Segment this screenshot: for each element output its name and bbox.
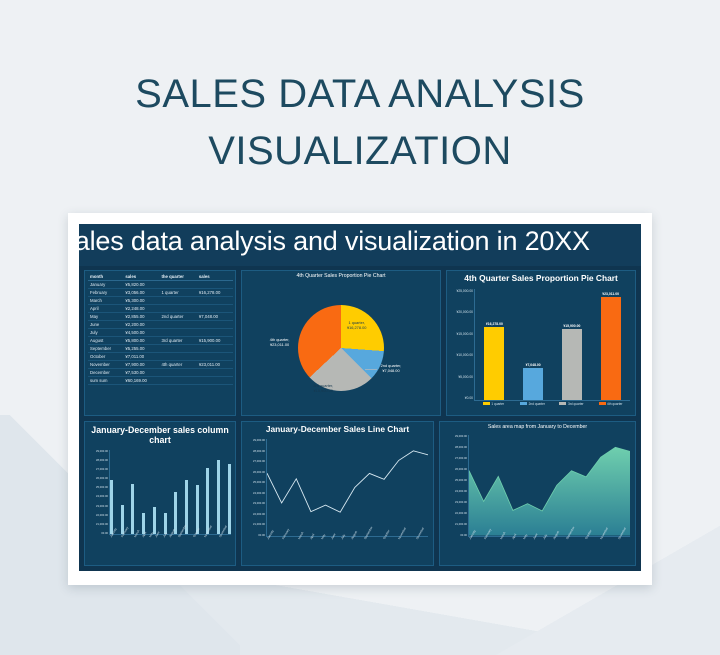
table-cell-sales: ¥5,300.00 xyxy=(123,297,159,305)
table-cell-qsales xyxy=(197,321,233,329)
th-sales: sales xyxy=(123,273,159,281)
table-row: January¥5,820.00 xyxy=(88,281,233,289)
line-y-tick: ¥8,000.00 xyxy=(253,450,265,453)
column-y-tick: ¥2,000.00 xyxy=(96,514,108,517)
line-y-tick: ¥0.00 xyxy=(258,534,265,537)
bar-chart-y-axis: ¥25,000.00¥20,000.00¥15,000.00¥10,000.00… xyxy=(449,289,473,401)
bar-value-label: ¥15,900.00 xyxy=(563,324,580,328)
area-chart-y-axis: ¥9,000.00¥8,000.00¥7,000.00¥6,000.00¥5,0… xyxy=(441,435,467,537)
column-y-tick: ¥0.00 xyxy=(101,532,108,535)
area-y-tick: ¥4,000.00 xyxy=(455,490,467,493)
column-y-tick: ¥1,000.00 xyxy=(96,523,108,526)
column-chart-title: January-December sales column chart xyxy=(85,422,235,446)
pie-label-q3: 3rd quarter,¥15,900.00 xyxy=(313,384,333,394)
table-cell-quarter xyxy=(159,353,196,361)
table-cell-quarter xyxy=(159,297,196,305)
column-chart-columns xyxy=(109,450,231,535)
table-cell-sales: ¥7,900.00 xyxy=(123,361,159,369)
table-cell-quarter xyxy=(159,281,196,289)
area-chart-plot xyxy=(468,435,630,537)
bar-column: ¥7,048.00 xyxy=(523,289,543,400)
line-chart-y-axis: ¥9,000.00¥8,000.00¥7,000.00¥6,000.00¥5,0… xyxy=(243,439,265,537)
area-chart-wrap: ¥9,000.00¥8,000.00¥7,000.00¥6,000.00¥5,0… xyxy=(440,431,635,565)
table-cell-qsales: ¥15,900.00 xyxy=(197,337,233,345)
line-y-tick: ¥3,000.00 xyxy=(253,502,265,505)
bar-value-label: ¥23,011.00 xyxy=(602,292,619,296)
bar-x-label: 2nd quarter xyxy=(529,402,545,406)
bar-legend-swatch xyxy=(483,402,490,405)
bar-x-label-item: 4th quarter xyxy=(598,402,624,406)
dashboard-frame: Sales data analysis and visualization in… xyxy=(68,213,652,585)
table-cell-sales: ¥2,200.00 xyxy=(123,321,159,329)
table-header-row: month sales the quarter sales xyxy=(88,273,233,281)
area-y-tick: ¥9,000.00 xyxy=(455,435,467,438)
bar-value-label: ¥7,048.00 xyxy=(526,363,541,367)
pie-disc xyxy=(298,305,384,391)
table-cell-sales: ¥4,500.00 xyxy=(123,329,159,337)
sales-table-wrap: month sales the quarter sales January¥5,… xyxy=(85,271,235,385)
table-cell-sales: ¥5,255.00 xyxy=(123,345,159,353)
line-chart-x-axis: JanuaryFebruaryMarchAprilMayJuneJulyAugu… xyxy=(266,537,428,564)
th-month: month xyxy=(88,273,123,281)
table-row: December¥7,530.00 xyxy=(88,369,233,377)
area-y-tick: ¥8,000.00 xyxy=(455,446,467,449)
table-cell-sales: ¥5,800.00 xyxy=(123,337,159,345)
column-x-label: April xyxy=(141,531,147,538)
table-cell-quarter xyxy=(159,369,196,377)
column-rect xyxy=(228,464,231,535)
bar-value-label: ¥16,278.00 xyxy=(486,322,503,326)
area-x-label: July xyxy=(542,534,548,540)
bar-chart-x-axis: 1 quarter2nd quarter3rd quarter4th quart… xyxy=(474,402,630,412)
bar-x-label-item: 3rd quarter xyxy=(559,402,585,406)
table-cell-sales: ¥7,011.00 xyxy=(123,353,159,361)
column-y-tick: ¥5,000.00 xyxy=(96,486,108,489)
pie-label-q4: 4th quarter,¥23,011.00 xyxy=(270,338,290,348)
column-y-tick: ¥9,000.00 xyxy=(96,450,108,453)
area-y-tick: ¥6,000.00 xyxy=(455,468,467,471)
bar-y-tick: ¥20,000.00 xyxy=(456,310,473,314)
area-y-tick: ¥3,000.00 xyxy=(455,501,467,504)
bar-x-label: 1 quarter xyxy=(491,402,504,406)
table-cell-qsales: ¥23,011.00 xyxy=(197,361,233,369)
column-chart-y-axis: ¥9,000.00¥8,000.00¥7,000.00¥6,000.00¥5,0… xyxy=(86,450,108,535)
table-cell-month: January xyxy=(88,281,123,289)
bar-legend-swatch xyxy=(520,402,527,405)
table-cell-sales: ¥2,855.00 xyxy=(123,313,159,321)
bar-rect xyxy=(523,368,543,399)
table-cell-quarter xyxy=(159,321,196,329)
area-y-tick: ¥7,000.00 xyxy=(455,457,467,460)
table-cell-month: sum sum xyxy=(88,377,123,385)
th-quarter-sales: sales xyxy=(197,273,233,281)
th-quarter: the quarter xyxy=(159,273,196,281)
sales-table: month sales the quarter sales January¥5,… xyxy=(88,273,233,385)
line-x-label: April xyxy=(309,533,315,540)
table-cell-qsales xyxy=(197,377,233,385)
table-cell-qsales xyxy=(197,329,233,337)
table-cell-qsales: ¥16,278.00 xyxy=(197,289,233,297)
bar-x-label: 4th quarter xyxy=(607,402,622,406)
line-y-tick: ¥6,000.00 xyxy=(253,471,265,474)
bar-column: ¥16,278.00 xyxy=(484,289,504,400)
area-y-tick: ¥0.00 xyxy=(460,534,467,537)
line-chart-wrap: ¥9,000.00¥8,000.00¥7,000.00¥6,000.00¥5,0… xyxy=(242,435,433,565)
column-y-tick: ¥3,000.00 xyxy=(96,505,108,508)
page-title-line-1: SALES DATA ANALYSIS xyxy=(0,66,720,123)
dashboard-banner-title: Sales data analysis and visualization in… xyxy=(79,226,590,257)
column-y-tick: ¥8,000.00 xyxy=(96,459,108,462)
column-y-tick: ¥4,000.00 xyxy=(96,495,108,498)
panel-monthly-line-chart: January-December Sales Line Chart ¥9,000… xyxy=(241,421,434,567)
table-row: February¥3,056.001 quarter¥16,278.00 xyxy=(88,289,233,297)
area-y-tick: ¥2,000.00 xyxy=(455,512,467,515)
table-cell-qsales xyxy=(197,297,233,305)
table-cell-quarter: 3rd quarter xyxy=(159,337,196,345)
bar-chart-title: 4th Quarter Sales Proportion Pie Chart xyxy=(447,271,635,285)
table-row: March¥5,300.00 xyxy=(88,297,233,305)
bar-rect xyxy=(484,327,504,399)
bar-column: ¥15,900.00 xyxy=(562,289,582,400)
column-rect xyxy=(131,484,134,534)
table-row: sum sum¥60,169.00 xyxy=(88,377,233,385)
table-row: May¥2,855.002nd quarter¥7,048.00 xyxy=(88,313,233,321)
area-y-tick: ¥1,000.00 xyxy=(455,523,467,526)
table-cell-quarter: 4th quarter xyxy=(159,361,196,369)
table-row: September¥5,255.00 xyxy=(88,345,233,353)
bar-y-tick: ¥10,000.00 xyxy=(456,353,473,357)
bar-legend-swatch xyxy=(559,402,566,405)
page-title: SALES DATA ANALYSIS VISUALIZATION xyxy=(0,66,720,180)
line-chart-title: January-December Sales Line Chart xyxy=(242,422,433,436)
bar-chart-wrap: ¥25,000.00¥20,000.00¥15,000.00¥10,000.00… xyxy=(447,285,635,415)
table-cell-quarter xyxy=(159,305,196,313)
bar-column: ¥23,011.00 xyxy=(601,289,621,400)
bar-y-tick: ¥15,000.00 xyxy=(456,332,473,336)
column-rect xyxy=(217,460,220,534)
pie-leader-line xyxy=(365,369,377,370)
bar-y-tick: ¥25,000.00 xyxy=(456,289,473,293)
table-cell-quarter xyxy=(159,377,196,385)
dashboard-row-top: month sales the quarter sales January¥5,… xyxy=(84,270,636,416)
line-y-tick: ¥1,000.00 xyxy=(253,523,265,526)
dashboard-row-bottom: January-December sales column chart ¥9,0… xyxy=(84,421,636,567)
table-cell-month: March xyxy=(88,297,123,305)
table-row: July¥4,500.00 xyxy=(88,329,233,337)
pie-label-q1: 1 quarter,¥16,278.00 xyxy=(347,321,366,331)
table-cell-month: November xyxy=(88,361,123,369)
column-chart-wrap: ¥9,000.00¥8,000.00¥7,000.00¥6,000.00¥5,0… xyxy=(85,446,235,565)
pie-label-q2: 2nd quarter,¥7,048.00 xyxy=(381,364,402,374)
table-row: June¥2,200.00 xyxy=(88,321,233,329)
bar-chart-columns: ¥16,278.00¥7,048.00¥15,900.00¥23,011.00 xyxy=(474,289,630,401)
bar-rect xyxy=(562,329,582,399)
line-chart-plot xyxy=(266,439,428,537)
line-x-label: July xyxy=(340,534,346,540)
line-y-tick: ¥7,000.00 xyxy=(253,460,265,463)
table-cell-qsales xyxy=(197,369,233,377)
panel-sales-table: month sales the quarter sales January¥5,… xyxy=(84,270,236,416)
column-rect xyxy=(174,492,177,534)
column-chart-x-axis: JanuaryFebruaryMarchAprilMayJuneJulyAugu… xyxy=(109,535,231,564)
area-y-tick: ¥5,000.00 xyxy=(455,479,467,482)
bar-rect xyxy=(601,297,621,399)
line-y-tick: ¥5,000.00 xyxy=(253,481,265,484)
table-cell-quarter: 2nd quarter xyxy=(159,313,196,321)
panel-quarter-pie-chart: 4th Quarter Sales Proportion Pie Chart 1… xyxy=(241,270,441,416)
line-y-tick: ¥4,000.00 xyxy=(253,492,265,495)
line-y-tick: ¥9,000.00 xyxy=(253,439,265,442)
table-cell-month: May xyxy=(88,313,123,321)
table-cell-qsales xyxy=(197,353,233,361)
table-cell-month: October xyxy=(88,353,123,361)
table-cell-sales: ¥7,530.00 xyxy=(123,369,159,377)
table-cell-month: July xyxy=(88,329,123,337)
table-cell-quarter: 1 quarter xyxy=(159,289,196,297)
table-cell-month: December xyxy=(88,369,123,377)
bar-x-label: 3rd quarter xyxy=(568,402,584,406)
column-rect xyxy=(110,480,113,535)
bar-legend-swatch xyxy=(599,402,606,405)
panel-monthly-column-chart: January-December sales column chart ¥9,0… xyxy=(84,421,236,567)
column-rect xyxy=(153,507,156,534)
table-cell-qsales xyxy=(197,281,233,289)
pie-chart-area: 1 quarter,¥16,278.00 2nd quarter,¥7,048.… xyxy=(242,281,440,415)
table-cell-sales: ¥2,248.00 xyxy=(123,305,159,313)
table-row: November¥7,900.004th quarter¥23,011.00 xyxy=(88,361,233,369)
column-y-tick: ¥7,000.00 xyxy=(96,468,108,471)
dashboard: Sales data analysis and visualization in… xyxy=(79,224,641,571)
panel-quarter-bar-chart: 4th Quarter Sales Proportion Pie Chart ¥… xyxy=(446,270,636,416)
table-row: August¥5,800.003rd quarter¥15,900.00 xyxy=(88,337,233,345)
table-cell-month: September xyxy=(88,345,123,353)
table-cell-sales: ¥3,056.00 xyxy=(123,289,159,297)
table-cell-quarter xyxy=(159,345,196,353)
table-cell-month: August xyxy=(88,337,123,345)
panel-monthly-area-chart: Sales area map from January to December … xyxy=(439,421,636,567)
table-cell-month: June xyxy=(88,321,123,329)
bar-y-tick: ¥5,000.00 xyxy=(458,375,473,379)
pie-chart-title: 4th Quarter Sales Proportion Pie Chart xyxy=(242,271,440,281)
area-chart-x-axis: JanuaryFebruaryMarchAprilMayJuneJulyAugu… xyxy=(468,537,630,564)
table-row: April¥2,248.00 xyxy=(88,305,233,313)
bar-y-tick: ¥0.00 xyxy=(465,396,473,400)
table-row: October¥7,011.00 xyxy=(88,353,233,361)
table-cell-qsales: ¥7,048.00 xyxy=(197,313,233,321)
area-x-label: April xyxy=(511,533,517,540)
table-cell-sales: ¥5,820.00 xyxy=(123,281,159,289)
table-cell-sales: ¥60,169.00 xyxy=(123,377,159,385)
line-y-tick: ¥2,000.00 xyxy=(253,513,265,516)
table-cell-quarter xyxy=(159,329,196,337)
sales-table-body: January¥5,820.00February¥3,056.001 quart… xyxy=(88,281,233,385)
table-cell-month: February xyxy=(88,289,123,297)
area-chart-title: Sales area map from January to December xyxy=(440,422,635,432)
bar-x-label-item: 1 quarter xyxy=(481,402,507,406)
table-cell-qsales xyxy=(197,345,233,353)
dashboard-body: month sales the quarter sales January¥5,… xyxy=(79,266,641,571)
bar-x-label-item: 2nd quarter xyxy=(520,402,546,406)
page-title-line-2: VISUALIZATION xyxy=(0,123,720,180)
column-y-tick: ¥6,000.00 xyxy=(96,477,108,480)
table-cell-qsales xyxy=(197,305,233,313)
dashboard-banner: Sales data analysis and visualization in… xyxy=(79,224,641,266)
column-x-label: June xyxy=(154,531,161,538)
table-cell-month: April xyxy=(88,305,123,313)
